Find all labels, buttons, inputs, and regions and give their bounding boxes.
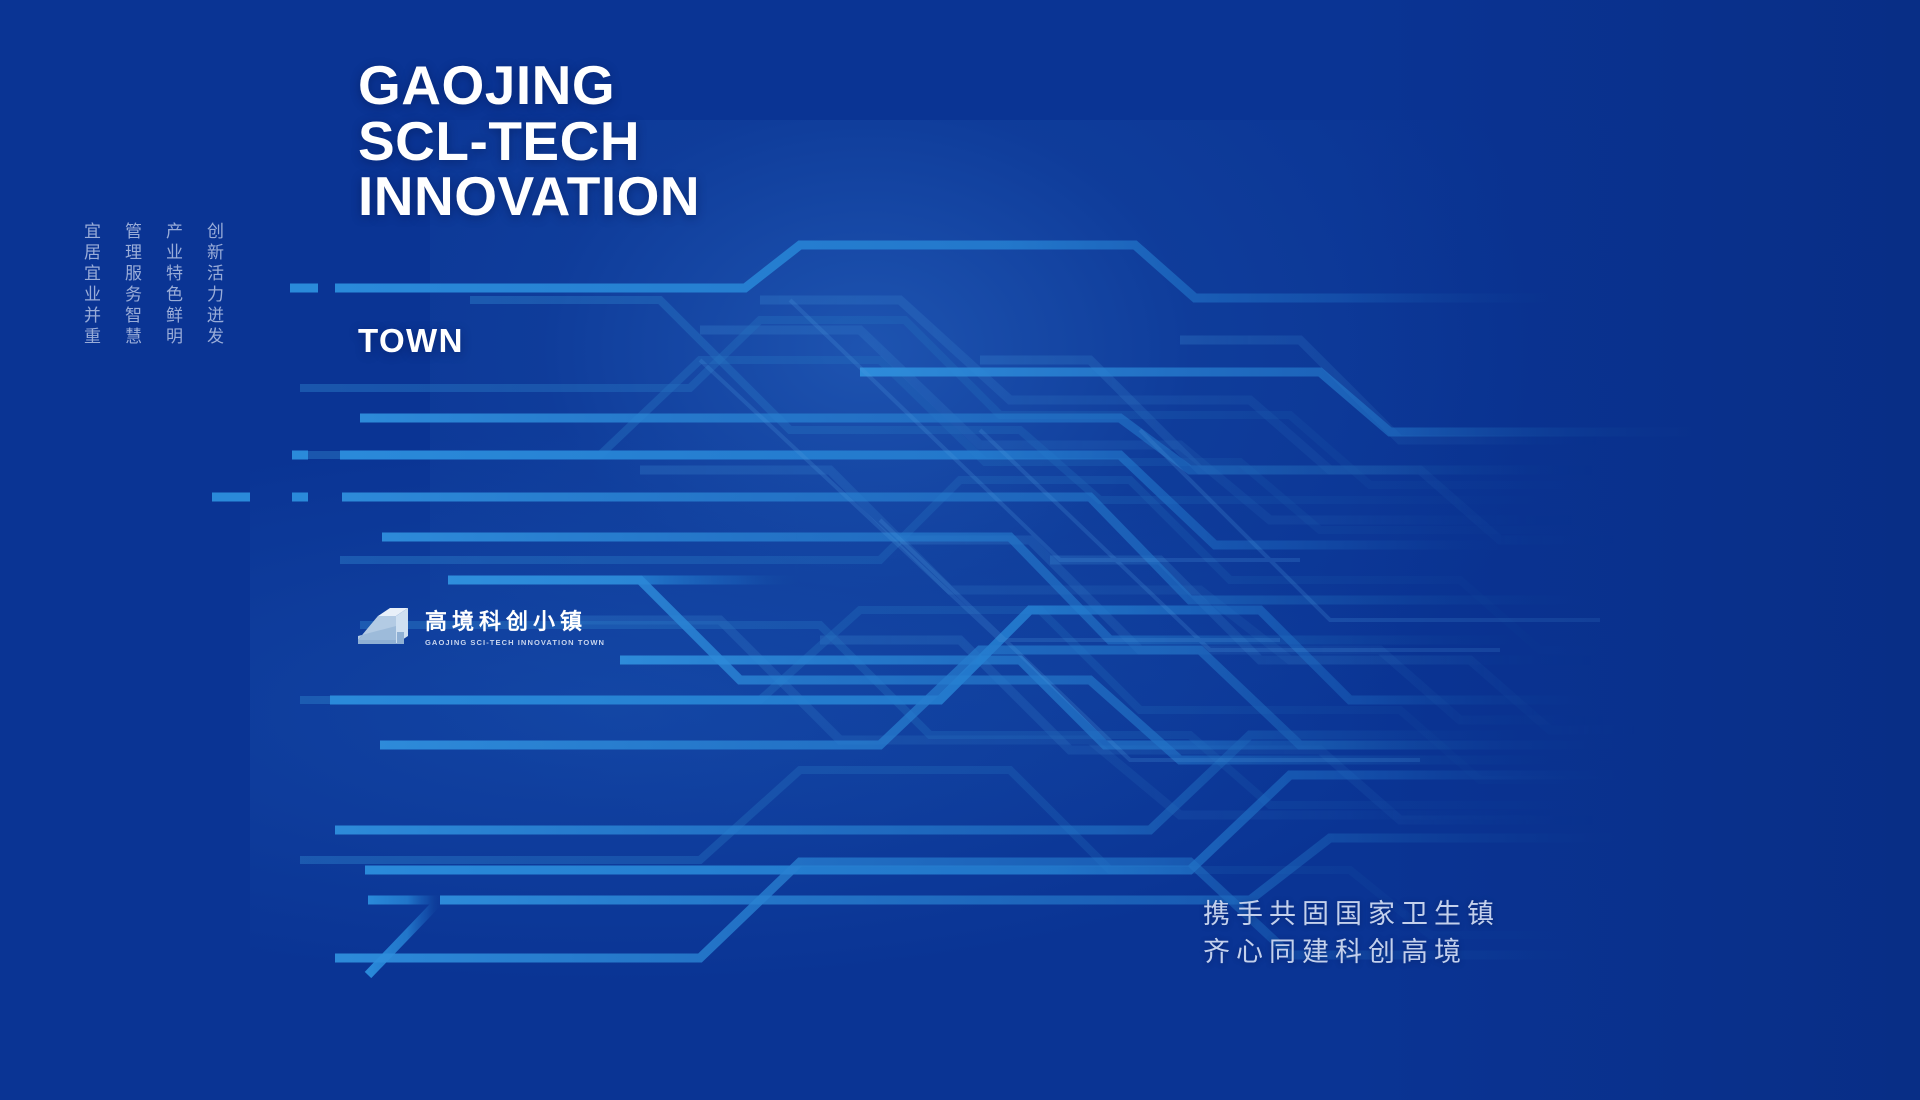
headline-line-1: GAOJING: [358, 58, 700, 114]
bottom-slogan-line-1: 携手共固国家卫生镇: [1203, 896, 1500, 934]
headline-line-4: TOWN: [358, 322, 464, 360]
circuit-pattern-artwork: [0, 0, 1920, 1100]
logo-text-block: 高境科创小镇 GAOJING SCI-TECH INNOVATION TOWN: [425, 611, 602, 647]
vertical-slogan-column-4: 宜居宜业并重: [78, 222, 103, 348]
headline-line-3: INNOVATION: [358, 169, 700, 225]
logo-name-cn: 高境科创小镇: [425, 611, 602, 635]
bottom-slogan: 携手共固国家卫生镇 齐心同建科创高境: [1203, 896, 1500, 973]
logo-lockup: 高境科创小镇 GAOJING SCI-TECH INNOVATION TOWN: [356, 606, 602, 652]
house-roof-icon: [356, 606, 416, 652]
page-title: GAOJING SCL-TECH INNOVATION: [358, 58, 700, 225]
bottom-slogan-line-2: 齐心同建科创高境: [1203, 934, 1500, 972]
vertical-slogan: 创新活力迸发 产业特色鲜明 管理服务智慧 宜居宜业并重: [78, 222, 226, 348]
logo-name-en: GAOJING SCI-TECH INNOVATION TOWN: [425, 638, 605, 647]
vertical-slogan-column-3: 管理服务智慧: [119, 222, 144, 348]
vertical-slogan-column-1: 创新活力迸发: [201, 222, 226, 348]
headline-line-2: SCL-TECH: [358, 114, 700, 170]
poster-canvas: GAOJING SCL-TECH INNOVATION TOWN 创新活力迸发 …: [0, 0, 1920, 1100]
vertical-slogan-column-2: 产业特色鲜明: [160, 222, 185, 348]
